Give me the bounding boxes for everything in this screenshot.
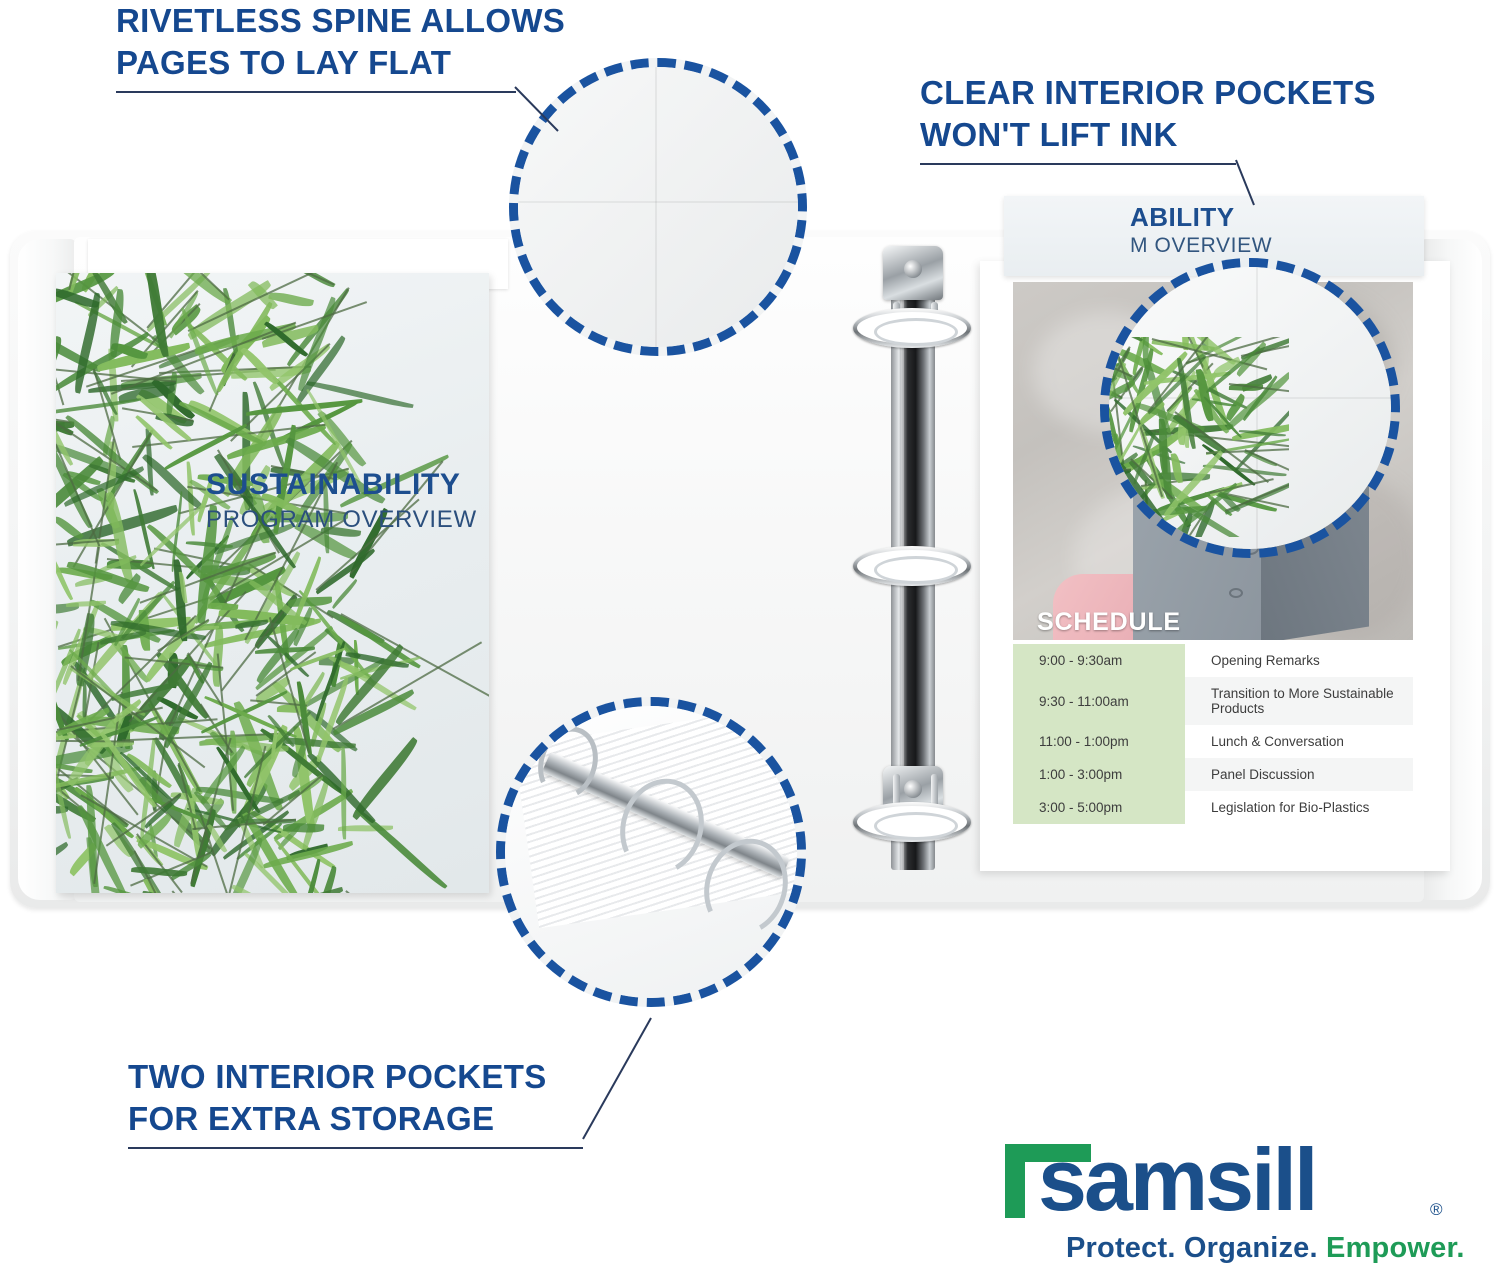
schedule-block: SCHEDULE 9:00 - 9:30amOpening Remarks9:3… bbox=[1013, 600, 1413, 850]
schedule-heading: SCHEDULE bbox=[1037, 608, 1181, 637]
overlay-subtitle-partial: M OVERVIEW bbox=[1130, 234, 1272, 258]
schedule-row: 9:00 - 9:30amOpening Remarks bbox=[1013, 644, 1413, 677]
page-fold-line bbox=[655, 67, 657, 347]
schedule-event: Transition to More Sustainable Products bbox=[1185, 677, 1413, 725]
schedule-time: 9:30 - 11:00am bbox=[1013, 677, 1185, 725]
zoom-circle-spine bbox=[509, 58, 807, 356]
bamboo-leaf bbox=[56, 841, 70, 874]
samsill-logo: samsill ® Protect. Organize. Empower. bbox=[1000, 1136, 1460, 1266]
bamboo-artwork-zoom bbox=[1109, 337, 1289, 537]
zoom-circle-pockets bbox=[1100, 258, 1400, 558]
bamboo-leaf bbox=[342, 747, 347, 840]
schedule-time: 9:00 - 9:30am bbox=[1013, 644, 1185, 677]
ring-screw-icon bbox=[904, 780, 922, 798]
callout-two-pockets: TWO INTERIOR POCKETS FOR EXTRA STORAGE bbox=[128, 1056, 668, 1149]
tagline-part-2: Empower. bbox=[1326, 1232, 1465, 1264]
bamboo-leaf bbox=[288, 597, 332, 607]
samsill-wordmark: samsill bbox=[1038, 1138, 1315, 1222]
bamboo-leaf bbox=[295, 859, 322, 893]
zoom-circle-content bbox=[518, 67, 798, 347]
binder-ring-top bbox=[853, 308, 971, 348]
product-feature-graphic: SUSTAINABILITY PROGRAM OVERVIEW bbox=[0, 0, 1500, 1274]
bamboo-leaf bbox=[105, 491, 133, 583]
three-ring-mechanism bbox=[853, 246, 973, 876]
bamboo-leaf bbox=[283, 822, 324, 833]
schedule-row: 11:00 - 1:00pmLunch & Conversation bbox=[1013, 725, 1413, 758]
schedule-table: 9:00 - 9:30amOpening Remarks9:30 - 11:00… bbox=[1013, 644, 1413, 824]
registered-trademark: ® bbox=[1430, 1200, 1443, 1220]
schedule-row: 9:30 - 11:00amTransition to More Sustain… bbox=[1013, 677, 1413, 725]
bamboo-leaf bbox=[263, 841, 354, 869]
callout-underline bbox=[116, 91, 516, 93]
zoom-circle-content bbox=[1109, 267, 1391, 549]
ring-inner-edge bbox=[874, 318, 958, 346]
sustainability-cover-page: SUSTAINABILITY PROGRAM OVERVIEW bbox=[56, 273, 489, 893]
tagline-part-1: Protect. Organize. bbox=[1066, 1232, 1326, 1264]
bamboo-leaf bbox=[56, 621, 60, 659]
overlay-title-partial: ABILITY bbox=[1130, 202, 1235, 233]
callout-text: CLEAR INTERIOR POCKETS WON'T LIFT INK bbox=[920, 72, 1460, 155]
binder-ring-middle bbox=[853, 546, 971, 586]
bamboo-leaf bbox=[240, 346, 279, 388]
page-fold-line bbox=[518, 201, 798, 203]
schedule-event: Opening Remarks bbox=[1185, 644, 1413, 677]
bamboo-leaf bbox=[331, 579, 359, 609]
ring-inner-edge bbox=[874, 556, 958, 584]
binder-ring-bottom bbox=[853, 802, 971, 842]
schedule-event: Lunch & Conversation bbox=[1185, 725, 1413, 758]
callout-text: RIVETLESS SPINE ALLOWS PAGES TO LAY FLAT bbox=[116, 0, 636, 83]
ring-inner-edge bbox=[874, 812, 958, 840]
callout-underline bbox=[920, 163, 1236, 165]
bamboo-stem bbox=[345, 891, 482, 893]
samsill-tagline: Protect. Organize. Empower. bbox=[1066, 1232, 1465, 1265]
schedule-time: 3:00 - 5:00pm bbox=[1013, 791, 1185, 824]
ring-clamp-top bbox=[883, 246, 943, 300]
schedule-row: 3:00 - 5:00pmLegislation for Bio-Plastic… bbox=[1013, 791, 1413, 824]
zoom-circle-content bbox=[505, 706, 797, 998]
callout-clear-pockets: CLEAR INTERIOR POCKETS WON'T LIFT INK bbox=[920, 72, 1460, 165]
callout-text: TWO INTERIOR POCKETS FOR EXTRA STORAGE bbox=[128, 1056, 668, 1139]
binder-hole-icon bbox=[1229, 588, 1243, 598]
ring-screw-icon bbox=[904, 260, 922, 278]
cover-title-block: SUSTAINABILITY PROGRAM OVERVIEW bbox=[206, 468, 481, 534]
callout-rivetless-spine: RIVETLESS SPINE ALLOWS PAGES TO LAY FLAT bbox=[116, 0, 636, 93]
cover-subtitle: PROGRAM OVERVIEW bbox=[206, 506, 481, 534]
zoom-circle-rings bbox=[496, 697, 806, 1007]
schedule-time: 1:00 - 3:00pm bbox=[1013, 758, 1185, 791]
bamboo-leaf bbox=[56, 398, 141, 417]
cover-title: SUSTAINABILITY bbox=[206, 468, 481, 502]
schedule-row: 1:00 - 3:00pmPanel Discussion bbox=[1013, 758, 1413, 791]
schedule-event: Legislation for Bio-Plastics bbox=[1185, 791, 1413, 824]
schedule-time: 11:00 - 1:00pm bbox=[1013, 725, 1185, 758]
callout-underline bbox=[128, 1147, 583, 1149]
bamboo-artwork bbox=[56, 273, 489, 893]
schedule-event: Panel Discussion bbox=[1185, 758, 1413, 791]
bamboo-leaf bbox=[343, 891, 420, 893]
